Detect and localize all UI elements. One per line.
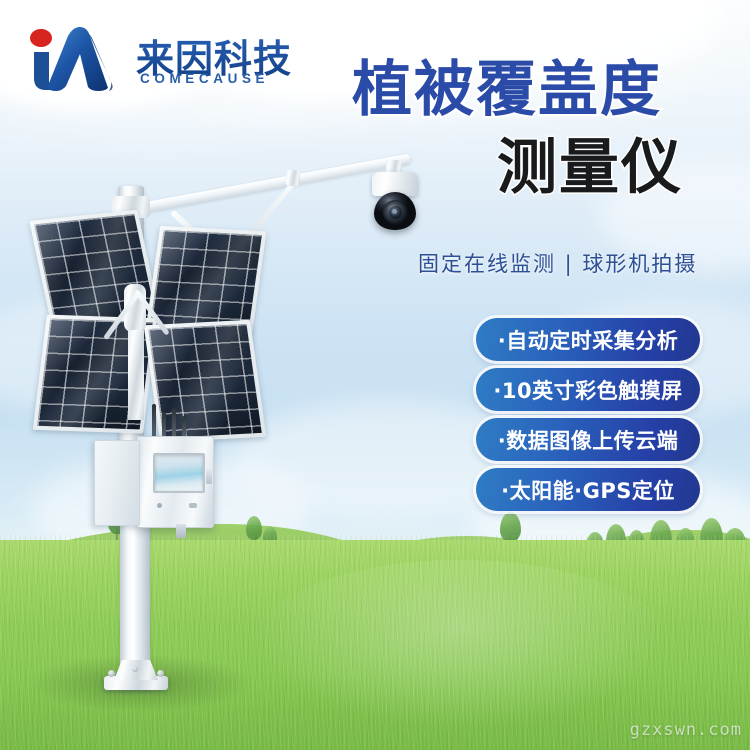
feature-pill-2[interactable]: ·10英寸彩色触摸屏 — [476, 368, 700, 411]
watermark: gzxswn.com — [630, 720, 742, 740]
antenna — [182, 416, 186, 438]
antenna — [172, 408, 176, 438]
headline-line-2: 测量仪 — [497, 136, 683, 200]
grass-texture — [0, 535, 750, 750]
camera-lens-glint — [392, 209, 397, 214]
feature-pill-label: ·数据图像上传云端 — [498, 425, 678, 455]
cabinet-label — [189, 503, 197, 508]
subtitle: 固定在线监测 | 球形机拍摄 — [418, 248, 697, 278]
cable-gland — [176, 524, 186, 538]
base-bolt — [132, 666, 138, 672]
feature-pill-label: ·10英寸彩色触摸屏 — [493, 375, 682, 405]
brand-logo[interactable]: 来因科技 COMECAUSE — [24, 24, 324, 96]
antenna — [162, 412, 166, 438]
feature-pill-4[interactable]: ·太阳能·GPS定位 — [476, 468, 700, 511]
feature-pill-label: ·太阳能·GPS定位 — [501, 475, 675, 505]
panel-support-column — [128, 330, 144, 420]
feature-pill-label: ·自动定时采集分析 — [498, 325, 678, 355]
touchscreen-display[interactable] — [153, 453, 205, 493]
base-bolt — [157, 670, 164, 677]
control-cabinet-door[interactable] — [94, 440, 140, 526]
headline-line-1: 植被覆盖度 — [352, 58, 662, 122]
feature-pill-1[interactable]: ·自动定时采集分析 — [476, 318, 700, 361]
boom-joint — [286, 170, 300, 186]
cabinet-latch[interactable] — [157, 503, 162, 508]
antenna — [152, 404, 156, 438]
control-cabinet[interactable] — [136, 436, 214, 528]
comecause-logo-mark-icon — [24, 26, 128, 92]
brand-name-en: COMECAUSE — [140, 71, 269, 86]
product-banner: 来因科技 COMECAUSE 植被覆盖度 测量仪 固定在线监测 | 球形机拍摄 … — [0, 0, 750, 750]
feature-pill-3[interactable]: ·数据图像上传云端 — [476, 418, 700, 461]
cabinet-hinge — [206, 468, 212, 484]
base-bolt — [108, 670, 115, 677]
